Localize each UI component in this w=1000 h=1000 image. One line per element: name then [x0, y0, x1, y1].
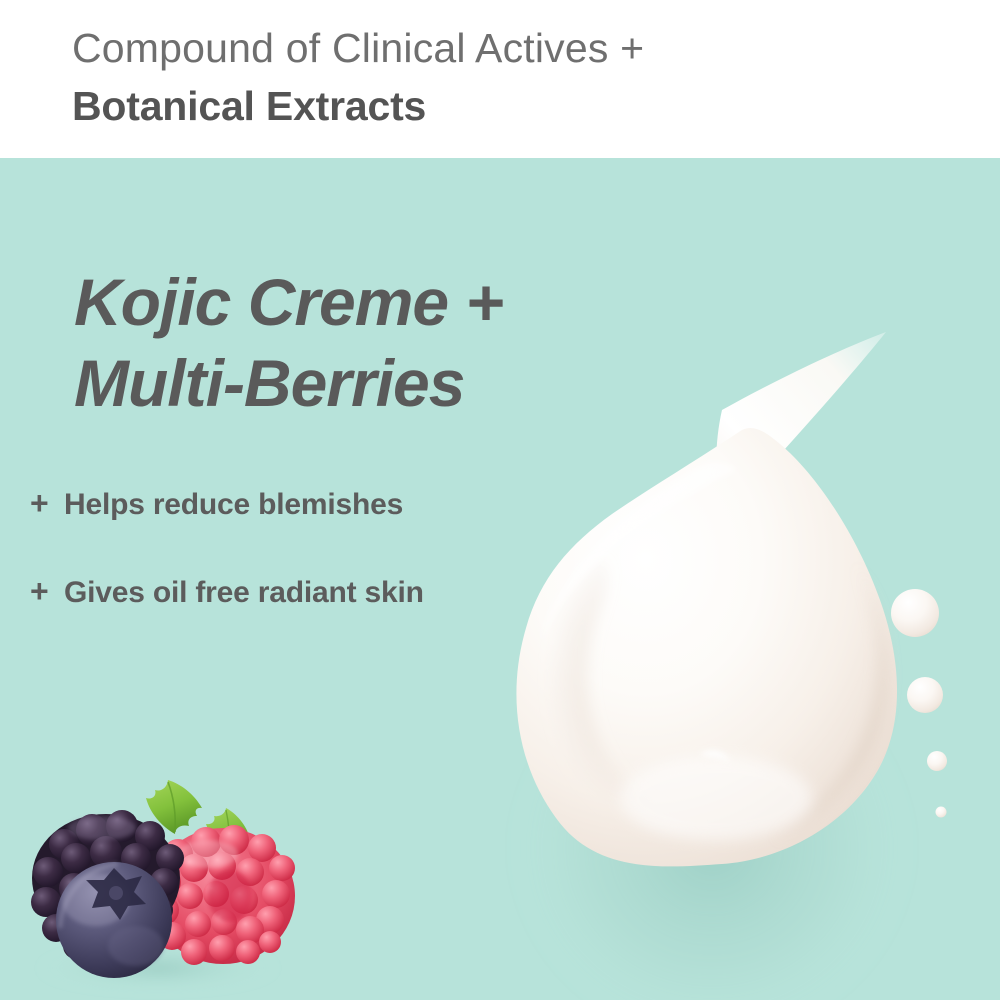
- cream-droplet: [927, 751, 947, 771]
- plus-icon: +: [30, 485, 64, 522]
- header-subtitle-line-2: Botanical Extracts: [72, 84, 426, 130]
- headline-line-1: Kojic Creme +: [74, 262, 503, 343]
- mint-content-panel: Kojic Creme + Multi-Berries + Helps redu…: [0, 158, 1000, 1000]
- cream-contact-shadow: [522, 668, 902, 1000]
- benefit-label: Helps reduce blemishes: [64, 488, 403, 522]
- cream-bottom-highlight: [620, 756, 812, 840]
- benefit-label: Gives oil free radiant skin: [64, 576, 424, 610]
- cream-tail: [716, 332, 886, 524]
- cream-inner-scoop: [551, 558, 760, 837]
- header-subtitle-line-1: Compound of Clinical Actives +: [72, 26, 644, 72]
- cream-rim-shade: [774, 558, 887, 840]
- product-banner: Compound of Clinical Actives + Botanical…: [0, 0, 1000, 1000]
- cream-droplet: [936, 807, 947, 818]
- page-title: Kojic Creme + Multi-Berries: [74, 262, 503, 423]
- mixed-berries-svg: [18, 768, 318, 1000]
- headline-line-2: Multi-Berries: [74, 343, 503, 424]
- mixed-berries-illustration: [18, 768, 318, 1000]
- cream-droplets: [891, 589, 947, 818]
- plus-icon: +: [30, 573, 64, 610]
- benefit-item: + Gives oil free radiant skin: [30, 573, 424, 610]
- cream-sheen-upper: [540, 463, 736, 644]
- cream-droplet: [891, 589, 939, 637]
- header-band: Compound of Clinical Actives + Botanical…: [0, 0, 1000, 158]
- blueberry-icon: [56, 862, 172, 978]
- benefit-item: + Helps reduce blemishes: [30, 485, 403, 522]
- cream-body: [516, 428, 897, 866]
- cream-glint: [700, 750, 730, 762]
- cream-droplet: [907, 677, 943, 713]
